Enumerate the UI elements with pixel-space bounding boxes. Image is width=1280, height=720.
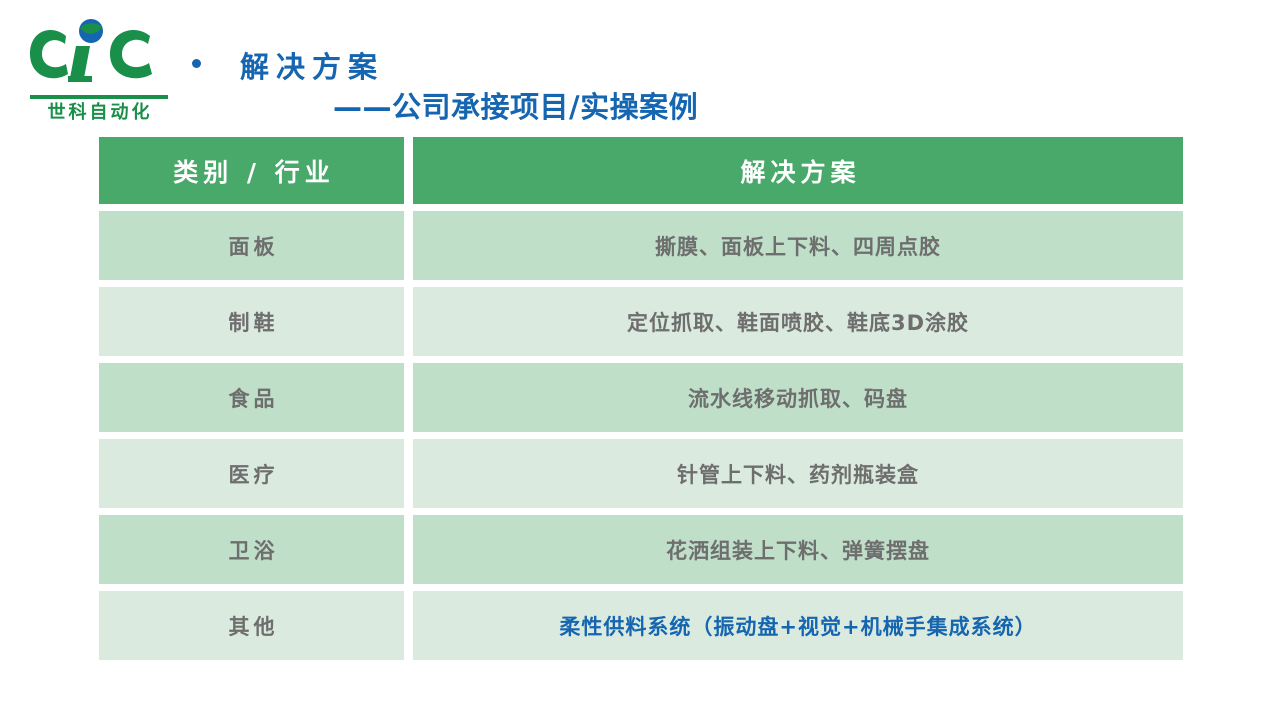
column-header-category: 类别 / 行业 — [99, 137, 404, 204]
cell-solution-label: 定位抓取、鞋面喷胶、鞋底3D涂胶 — [627, 307, 969, 337]
cell-solution: 定位抓取、鞋面喷胶、鞋底3D涂胶 — [413, 287, 1183, 356]
table-row: 卫浴 花洒组装上下料、弹簧摆盘 — [99, 515, 1183, 584]
table-row: 医疗 针管上下料、药剂瓶装盒 — [99, 439, 1183, 508]
table-row: 制鞋 定位抓取、鞋面喷胶、鞋底3D涂胶 — [99, 287, 1183, 356]
cell-category-label: 医疗 — [225, 459, 279, 489]
table-header-row: 类别 / 行业 解决方案 — [99, 137, 1183, 204]
cell-category: 面板 — [99, 211, 404, 280]
table-row: 其他 柔性供料系统（振动盘+视觉+机械手集成系统） — [99, 591, 1183, 660]
cell-solution: 撕膜、面板上下料、四周点胶 — [413, 211, 1183, 280]
cell-solution: 流水线移动抓取、码盘 — [413, 363, 1183, 432]
cell-category-label: 制鞋 — [225, 307, 279, 337]
cic-logo-icon — [22, 16, 174, 90]
column-header-category-label: 类别 / 行业 — [168, 153, 335, 189]
bullet-dot-icon — [192, 59, 201, 68]
cell-solution-label: 针管上下料、药剂瓶装盒 — [677, 459, 919, 489]
table-row: 食品 流水线移动抓取、码盘 — [99, 363, 1183, 432]
table-row: 面板 撕膜、面板上下料、四周点胶 — [99, 211, 1183, 280]
cell-category: 医疗 — [99, 439, 404, 508]
cell-solution-label: 流水线移动抓取、码盘 — [688, 383, 908, 413]
column-header-solution-label: 解决方案 — [735, 153, 860, 189]
cell-category: 其他 — [99, 591, 404, 660]
cell-category-label: 卫浴 — [225, 535, 279, 565]
cell-solution-label: 花洒组装上下料、弹簧摆盘 — [666, 535, 930, 565]
cell-category-label: 食品 — [225, 383, 279, 413]
logo-subtitle: 世科自动化 — [28, 101, 172, 125]
page-title: 解决方案 — [240, 44, 384, 86]
cell-category-label: 面板 — [225, 231, 279, 261]
brand-logo: 世科自动化 — [22, 16, 174, 116]
cell-category: 制鞋 — [99, 287, 404, 356]
cell-solution: 花洒组装上下料、弹簧摆盘 — [413, 515, 1183, 584]
cell-solution: 针管上下料、药剂瓶装盒 — [413, 439, 1183, 508]
page-subtitle: ——公司承接项目/实操案例 — [333, 84, 698, 126]
cell-category-label: 其他 — [225, 611, 279, 641]
cell-solution-label: 柔性供料系统（振动盘+视觉+机械手集成系统） — [559, 611, 1036, 641]
cell-category: 食品 — [99, 363, 404, 432]
logo-divider — [30, 95, 168, 99]
column-header-solution: 解决方案 — [413, 137, 1183, 204]
cell-solution: 柔性供料系统（振动盘+视觉+机械手集成系统） — [413, 591, 1183, 660]
cell-solution-label: 撕膜、面板上下料、四周点胶 — [655, 231, 941, 261]
cell-category: 卫浴 — [99, 515, 404, 584]
solutions-table: 类别 / 行业 解决方案 面板 撕膜、面板上下料、四周点胶 制鞋 定位抓取、鞋面… — [99, 137, 1183, 660]
